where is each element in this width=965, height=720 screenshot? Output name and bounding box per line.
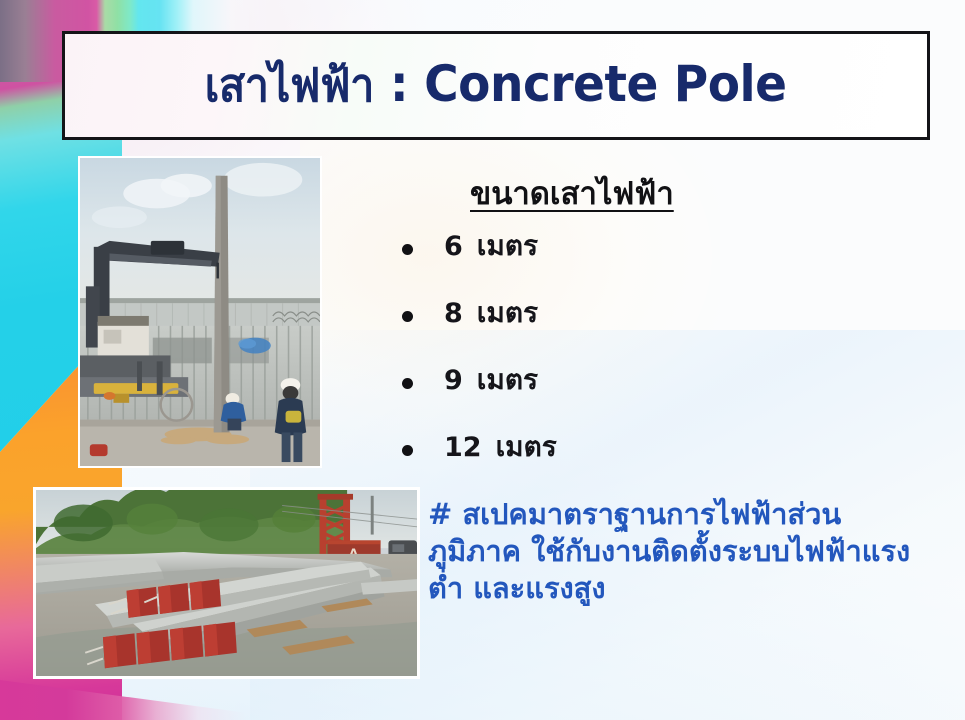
page-title: เสาไฟฟ้า : Concrete Pole [205,59,787,113]
size-value: 12 [444,432,482,463]
bullet-icon [402,244,413,255]
list-item: 8เมตร [396,299,916,366]
spec-note: # สเปคมาตราฐานการไฟฟ้าส่วนภูมิภาค ใช้กับ… [428,496,928,607]
pole-sizes-list: 6เมตร 8เมตร 9เมตร 12เมตร [396,232,916,500]
title-thai-part: เสาไฟฟ้า [205,58,374,112]
slide-canvas: เสาไฟฟ้า : Concrete Pole [0,0,965,720]
list-item: 12เมตร [396,433,916,500]
size-unit: เมตร [496,430,557,463]
bullet-icon [402,311,413,322]
pole-installation-illustration [80,158,320,466]
sizes-heading: ขนาดเสาไฟฟ้า [470,168,674,218]
list-item: 6เมตร [396,232,916,299]
size-value: 8 [444,298,463,329]
size-unit: เมตร [477,229,538,262]
stacked-poles-illustration: A [36,490,417,676]
title-separator: : [374,55,424,113]
title-box: เสาไฟฟ้า : Concrete Pole [62,31,930,140]
size-unit: เมตร [477,363,538,396]
photo-pole-installation [78,156,322,468]
title-english-part: Concrete Pole [425,55,787,113]
size-value: 9 [444,365,463,396]
bullet-icon [402,378,413,389]
list-item: 9เมตร [396,366,916,433]
size-value: 6 [444,231,463,262]
bullet-icon [402,445,413,456]
photo-stacked-concrete-poles: A [33,487,420,679]
size-unit: เมตร [477,296,538,329]
